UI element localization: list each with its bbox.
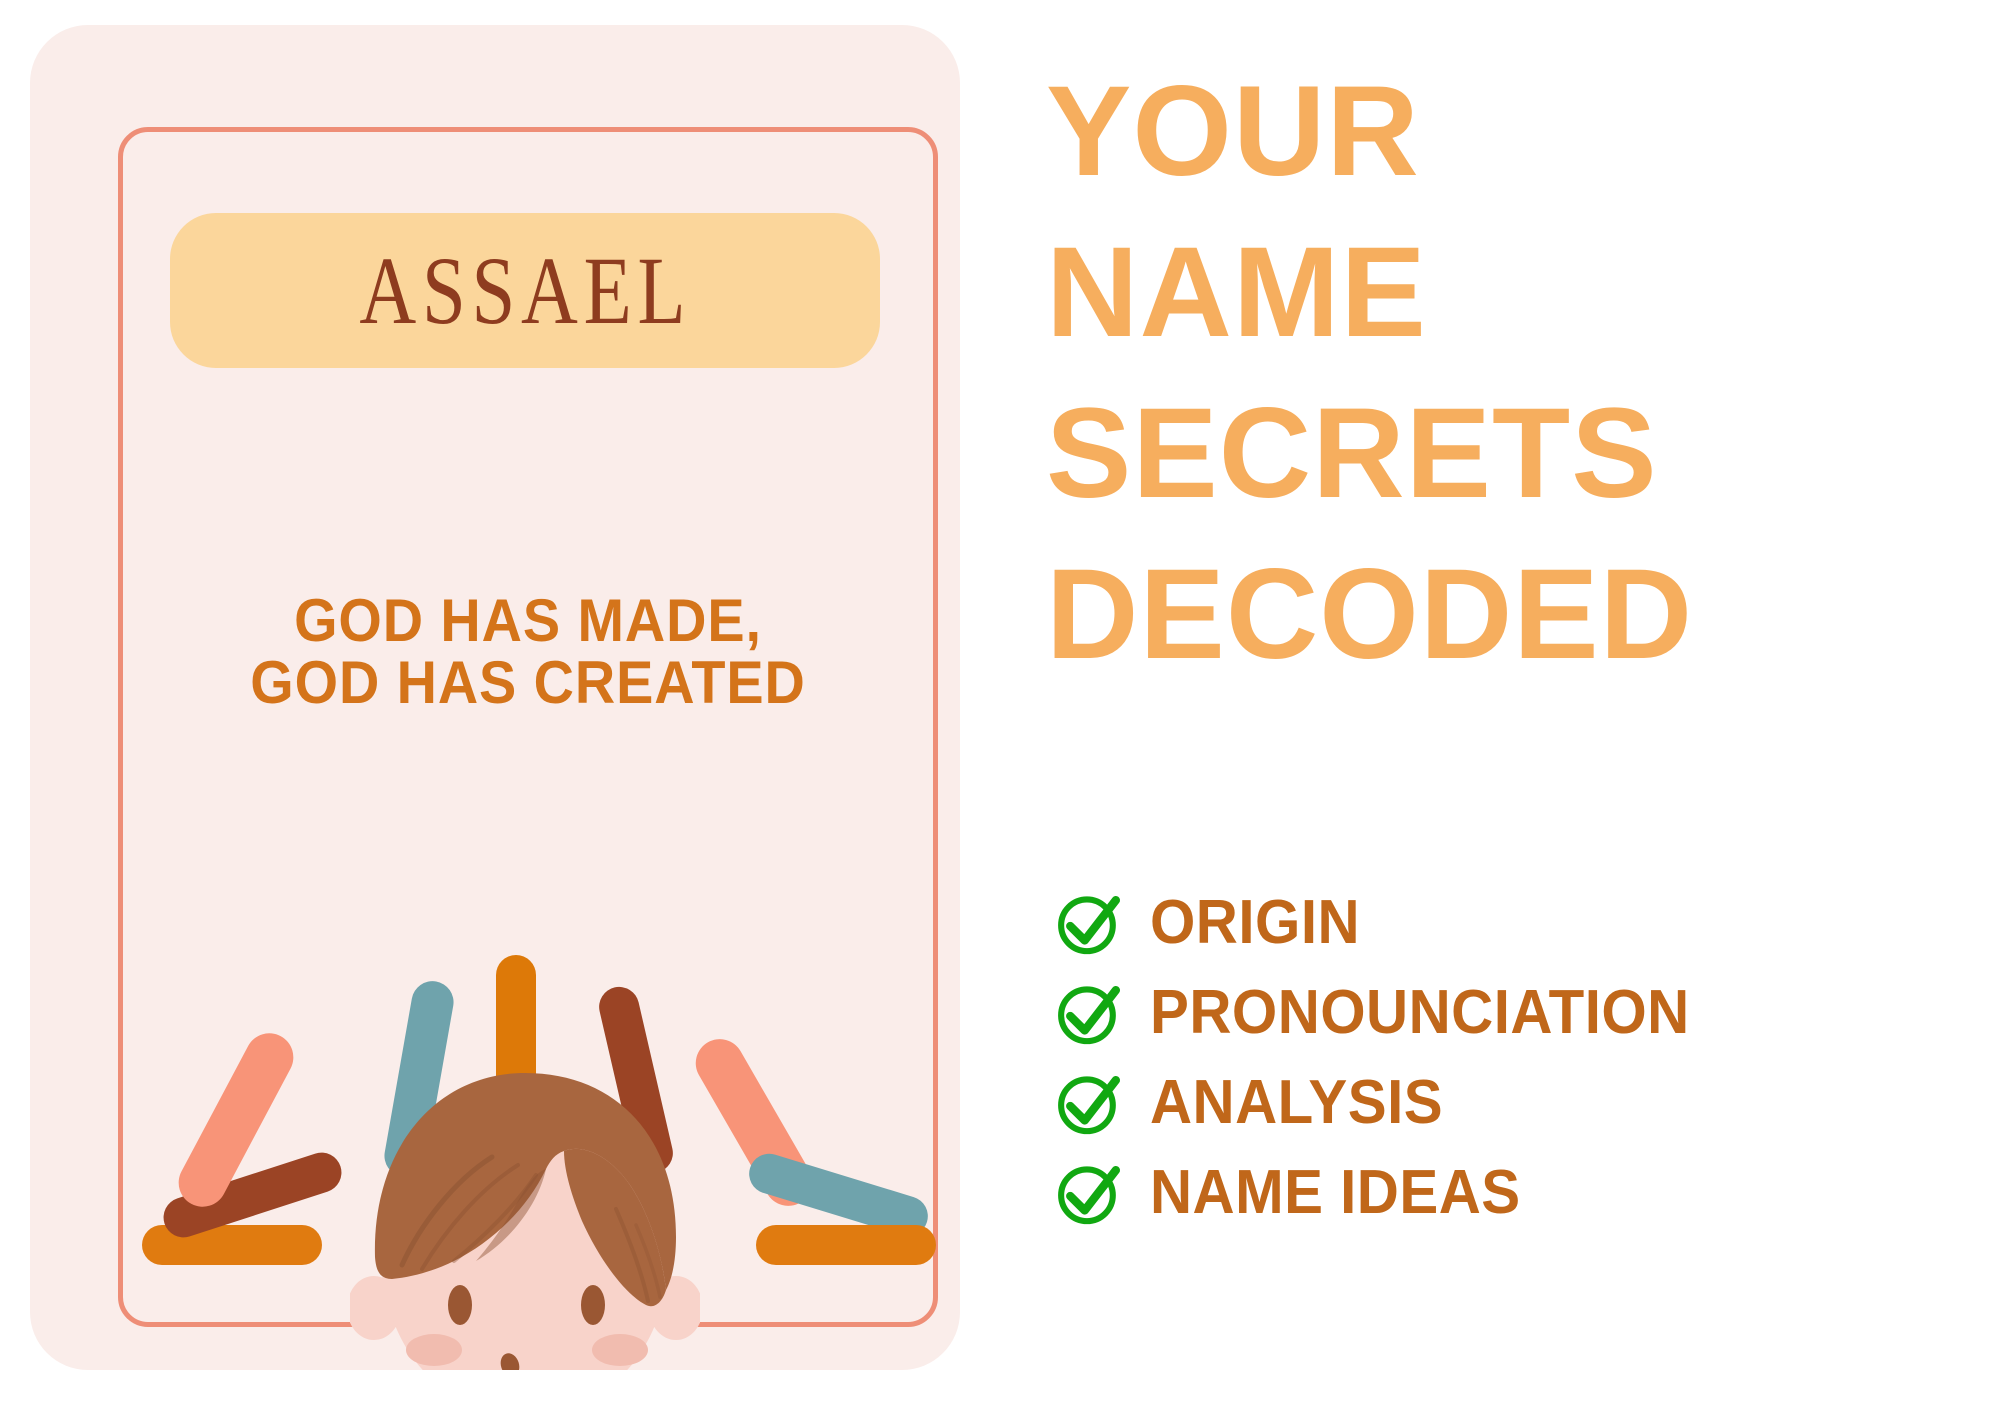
- name-badge: ASSAEL: [170, 213, 880, 368]
- ray-right-mid-salmon: [687, 1030, 821, 1214]
- ray-right-outer-teal: [744, 1149, 933, 1241]
- ray-left-outer-brown: [158, 1147, 346, 1242]
- name-meaning: GOD HAS MADE, GOD HAS CREATED: [147, 590, 910, 714]
- check-circle-icon: [1052, 885, 1128, 961]
- check-circle-icon: [1052, 1155, 1128, 1231]
- eye-left: [448, 1285, 472, 1325]
- headline: YOUR NAME SECRETS DECODED: [1046, 72, 2000, 716]
- promo-text-panel: YOUR NAME SECRETS DECODED ORIGINPRONOUNC…: [1046, 0, 2000, 1414]
- name-text: ASSAEL: [359, 243, 691, 339]
- name-meaning-line-2: GOD HAS CREATED: [147, 652, 910, 714]
- child-face-illustration: [350, 1065, 700, 1370]
- checklist-item: NAME IDEAS: [1052, 1150, 2000, 1235]
- headline-line-2: NAME: [1046, 233, 2000, 352]
- checklist-item: ANALYSIS: [1052, 1060, 2000, 1145]
- checklist-item-label: ORIGIN: [1150, 892, 1360, 954]
- checklist-item-label: PRONOUNCIATION: [1150, 982, 1690, 1044]
- headline-line-4: DECODED: [1046, 555, 2000, 674]
- cheek-right: [592, 1334, 648, 1366]
- ray-right-horizontal-orange: [756, 1225, 936, 1265]
- check-circle-icon: [1052, 1065, 1128, 1141]
- name-card: ASSAEL GOD HAS MADE, GOD HAS CREATED: [30, 25, 960, 1370]
- checklist-item: ORIGIN: [1052, 880, 2000, 965]
- ray-left-mid-salmon: [170, 1025, 302, 1215]
- name-meaning-line-1: GOD HAS MADE,: [147, 590, 910, 652]
- ray-left-horizontal-orange: [142, 1225, 322, 1265]
- check-circle-icon: [1052, 975, 1128, 1051]
- cheek-left: [406, 1334, 462, 1366]
- checklist-item-label: ANALYSIS: [1150, 1072, 1443, 1134]
- checklist-item-label: NAME IDEAS: [1150, 1162, 1521, 1224]
- headline-line-3: SECRETS: [1046, 394, 2000, 513]
- promo-graphic: ASSAEL GOD HAS MADE, GOD HAS CREATED: [0, 0, 2000, 1414]
- feature-checklist: ORIGINPRONOUNCIATIONANALYSISNAME IDEAS: [1052, 880, 2000, 1240]
- checklist-item: PRONOUNCIATION: [1052, 970, 2000, 1055]
- eye-right: [581, 1285, 605, 1325]
- headline-line-1: YOUR: [1046, 72, 2000, 191]
